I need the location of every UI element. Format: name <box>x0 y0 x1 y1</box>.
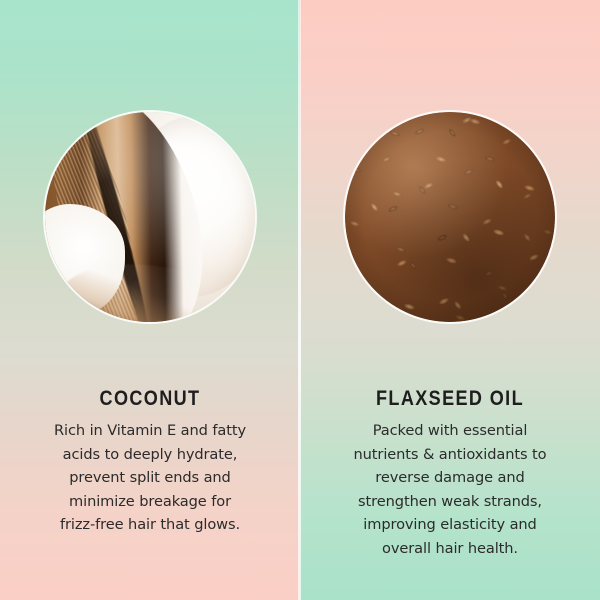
flaxseed-description-line: Packed with essential <box>316 419 584 443</box>
coconut-text-block: COCONUT Rich in Vitamin E and fatty acid… <box>0 388 300 537</box>
ingredient-infographic: COCONUT Rich in Vitamin E and fatty acid… <box>0 0 600 600</box>
coconut-description-line: frizz-free hair that glows. <box>16 513 284 537</box>
coconut-title: COCONUT <box>35 388 265 410</box>
coconut-highlight <box>45 112 255 322</box>
coconut-description: Rich in Vitamin E and fatty acids to dee… <box>16 419 284 537</box>
coconut-photo <box>45 112 255 322</box>
coconut-image-frame <box>45 112 255 322</box>
coconut-description-line: prevent split ends and <box>16 466 284 490</box>
flaxseed-description-line: nutrients & antioxidants to <box>316 443 584 467</box>
panel-coconut: COCONUT Rich in Vitamin E and fatty acid… <box>0 0 300 600</box>
coconut-description-line: Rich in Vitamin E and fatty <box>16 419 284 443</box>
flaxseed-description-line: reverse damage and <box>316 466 584 490</box>
coconut-description-line: minimize breakage for <box>16 490 284 514</box>
flaxseed-description-line: overall hair health. <box>316 537 584 561</box>
coconut-description-line: acids to deeply hydrate, <box>16 443 284 467</box>
panel-flaxseed-oil: FLAXSEED OIL Packed with essential nutri… <box>300 0 600 600</box>
flaxseed-shading <box>345 112 555 322</box>
flaxseed-image-frame <box>345 112 555 322</box>
flaxseed-text-block: FLAXSEED OIL Packed with essential nutri… <box>300 388 600 560</box>
flaxseed-description-line: strengthen weak strands, <box>316 490 584 514</box>
flaxseed-photo <box>345 112 555 322</box>
flaxseed-description-line: improving elasticity and <box>316 513 584 537</box>
flaxseed-title: FLAXSEED OIL <box>335 388 565 410</box>
flaxseed-description: Packed with essential nutrients & antiox… <box>316 419 584 560</box>
